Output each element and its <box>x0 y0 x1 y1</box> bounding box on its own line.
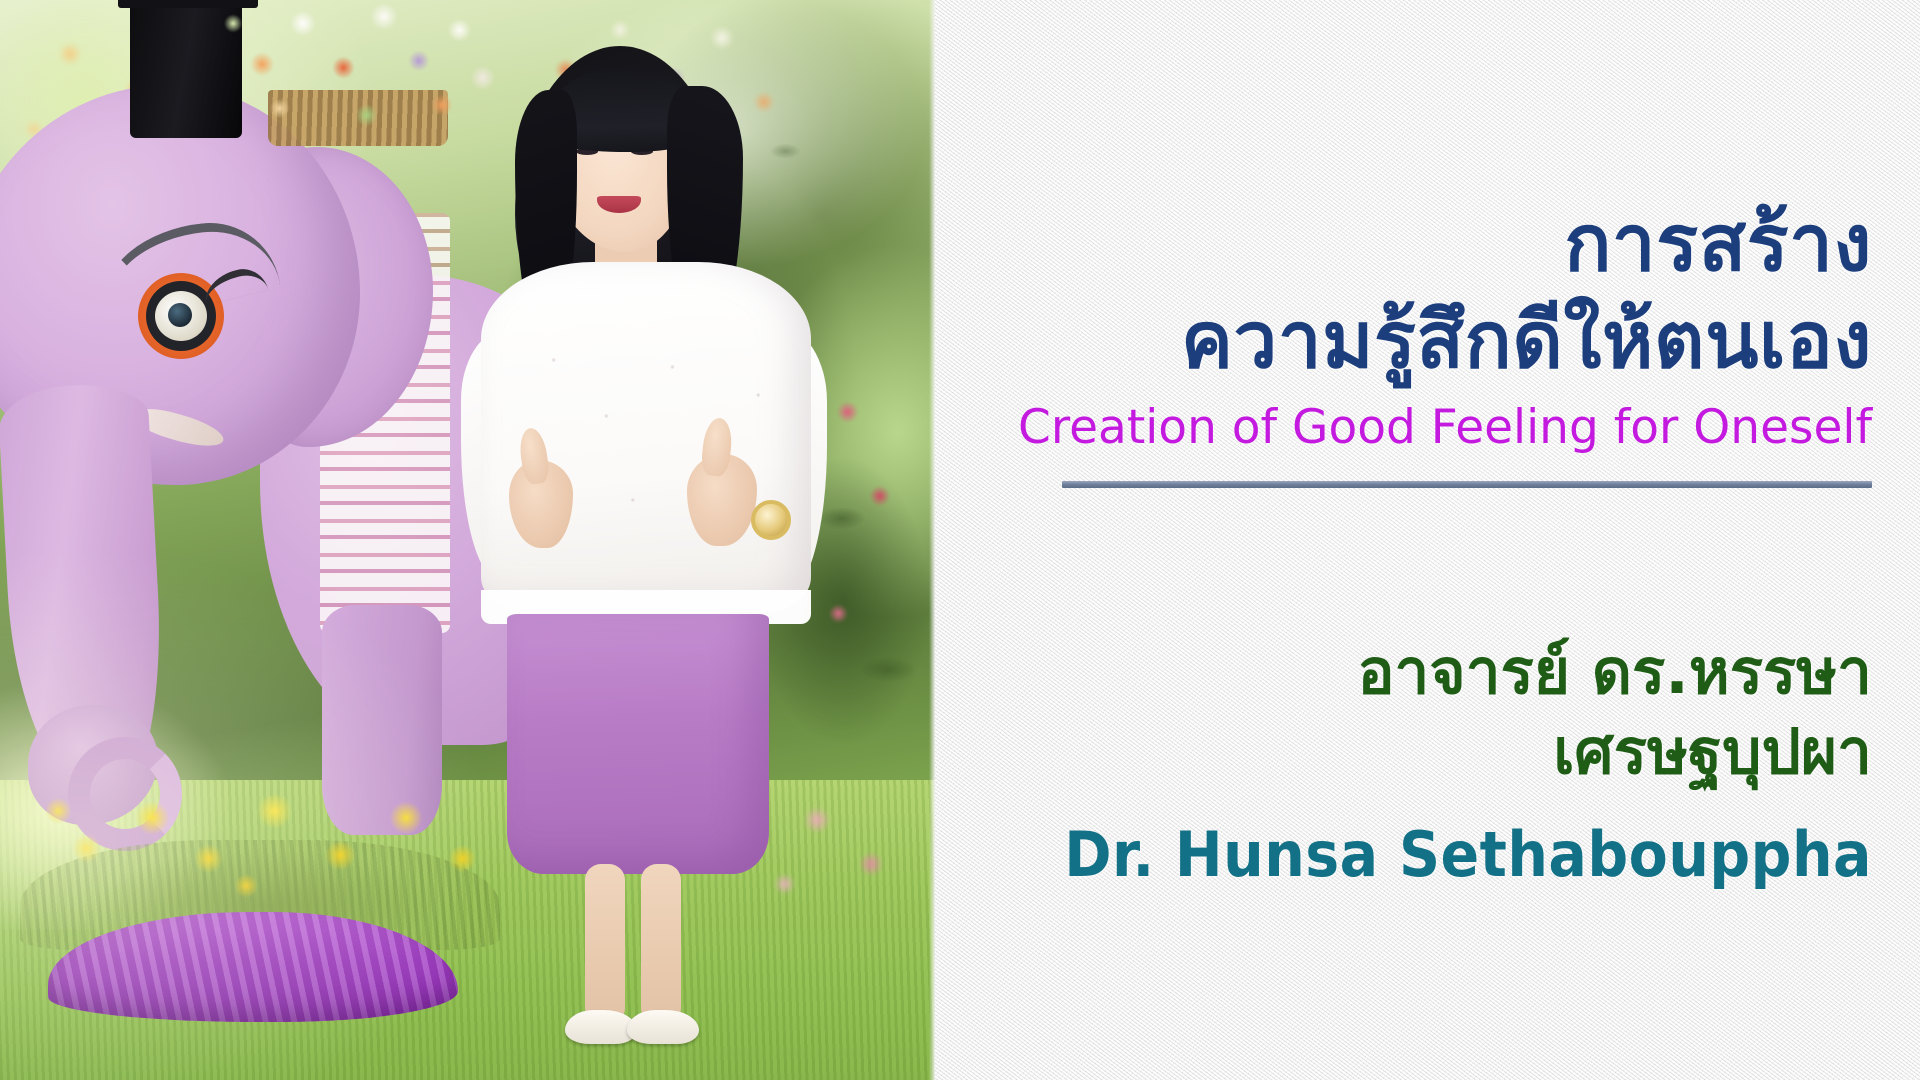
yellow-marigold-bed <box>30 760 500 930</box>
speaker-name-english: Dr. Hunsa Sethabouppha <box>1063 821 1872 889</box>
woman-right-sandal <box>627 1010 699 1044</box>
woman-right-leg <box>641 864 681 1024</box>
horizontal-divider <box>1062 481 1872 488</box>
woman-figure <box>455 30 875 1080</box>
title-block: การสร้าง ความรู้สึกดีให้ตนเอง <box>993 196 1872 389</box>
title-slide: การสร้าง ความรู้สึกดีให้ตนเอง Creation o… <box>0 0 1920 1080</box>
woman-left-leg <box>585 864 625 1024</box>
subtitle-english: Creation of Good Feeling for Oneself <box>993 401 1872 455</box>
speaker-name-thai-line-2: เศรษฐบุปผา <box>993 712 1872 791</box>
speaker-photo <box>0 0 935 1080</box>
speaker-block: อาจารย์ ดร.หรรษา เศรษฐบุปผา Dr. Hunsa Se… <box>993 632 1872 889</box>
title-line-1: การสร้าง <box>993 196 1872 293</box>
woman-purple-skirt <box>507 614 769 874</box>
title-line-2: ความรู้สึกดีให้ตนเอง <box>993 293 1872 390</box>
elephant-pupil <box>168 303 192 327</box>
text-panel: การสร้าง ความรู้สึกดีให้ตนเอง Creation o… <box>935 0 1920 1080</box>
gold-wristwatch <box>751 500 791 540</box>
speaker-name-thai-line-1: อาจารย์ ดร.หรรษา <box>993 632 1872 711</box>
woman-left-sandal <box>565 1010 637 1044</box>
